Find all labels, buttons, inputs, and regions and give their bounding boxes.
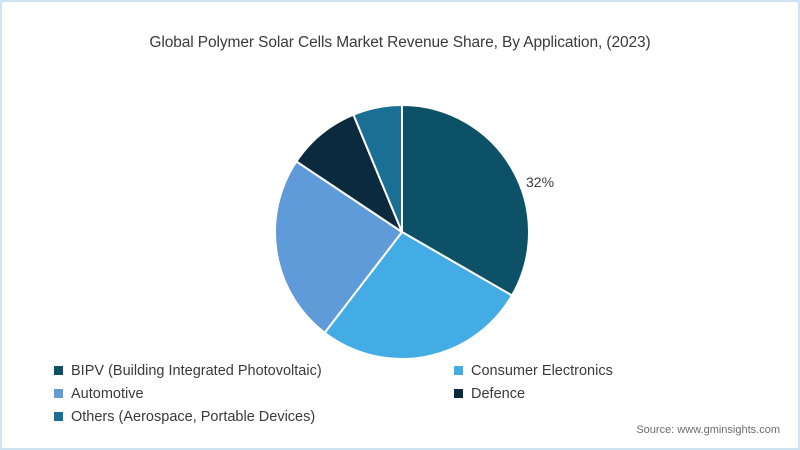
legend-swatch-icon [454,366,463,375]
legend-swatch-icon [454,389,463,398]
pie-chart-svg [274,104,530,360]
pie-chart [274,104,530,360]
legend-item[interactable]: Defence [454,382,694,405]
data-label-bipv: 32% [526,174,554,190]
source-attribution: Source: www.gminsights.com [636,424,780,436]
legend-item-label: BIPV (Building Integrated Photovoltaic) [71,363,322,379]
legend-item-label: Consumer Electronics [471,363,613,379]
legend-item[interactable]: Others (Aerospace, Portable Devices) [54,405,454,428]
legend-swatch-icon [54,389,63,398]
legend-item[interactable]: Automotive [54,382,454,405]
legend-item-label: Defence [471,386,525,402]
legend-item-label: Others (Aerospace, Portable Devices) [71,409,315,425]
pie-slice-group [275,105,529,359]
legend-item[interactable]: Consumer Electronics [454,359,694,382]
legend-item-label: Automotive [71,386,144,402]
chart-page: Global Polymer Solar Cells Market Revenu… [0,0,800,450]
legend-swatch-icon [54,412,63,421]
legend-swatch-icon [54,366,63,375]
chart-legend: BIPV (Building Integrated Photovoltaic)C… [54,359,694,428]
legend-item[interactable]: BIPV (Building Integrated Photovoltaic) [54,359,454,382]
page-title: Global Polymer Solar Cells Market Revenu… [2,34,798,52]
